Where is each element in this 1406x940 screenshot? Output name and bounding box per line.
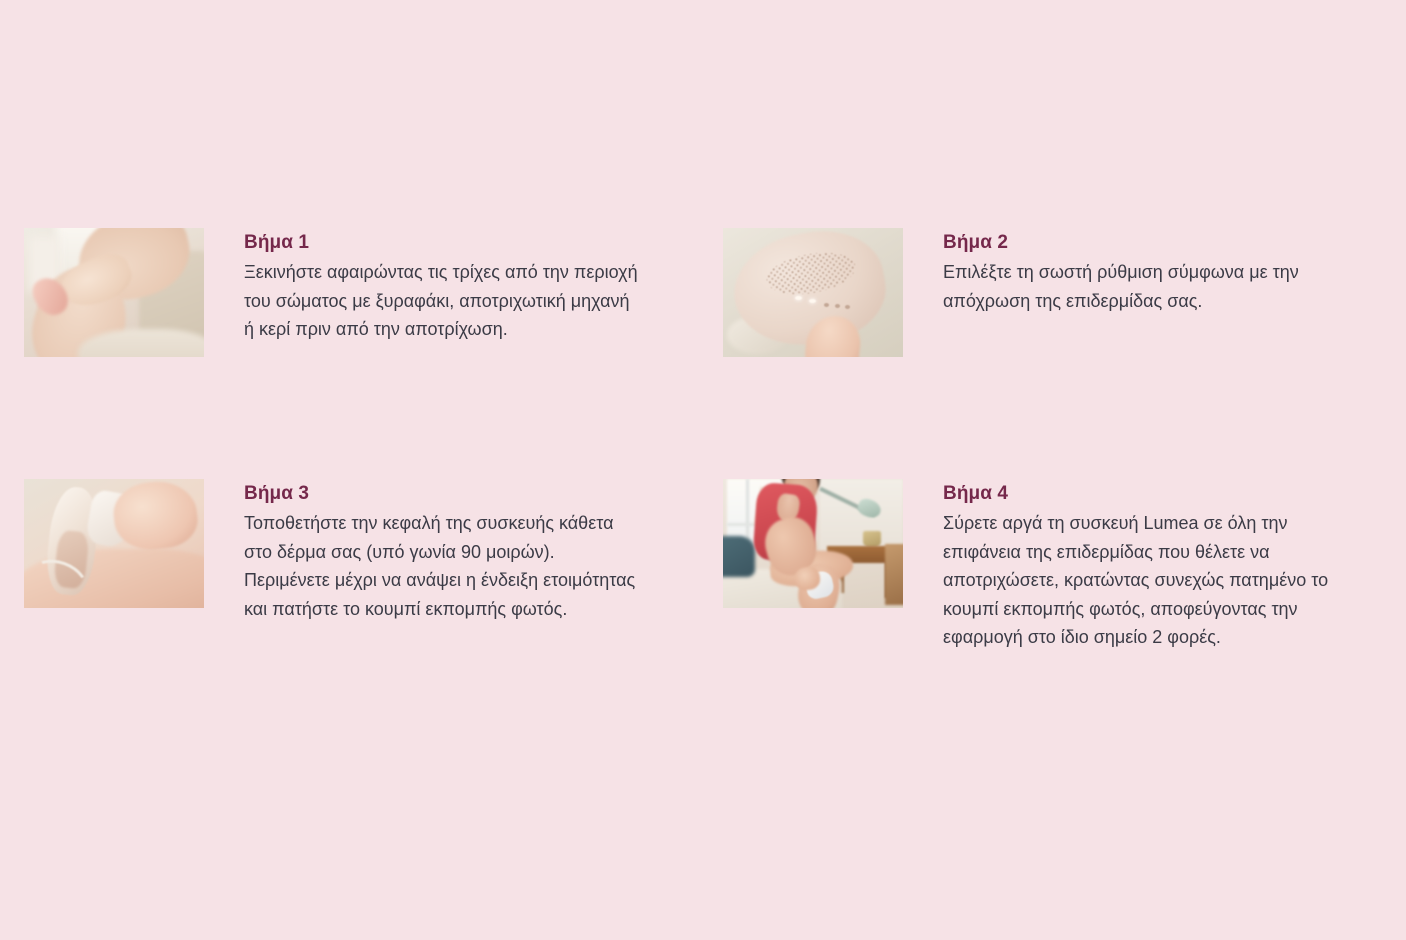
step-2-body: Βήμα 2 Επιλέξτε τη σωστή ρύθμιση σύμφωνα… — [943, 228, 1358, 315]
treatment-room-photo-art — [723, 479, 903, 608]
step-4-text: Σύρετε αργά τη συσκευή Lumea σε όλη την … — [943, 509, 1358, 652]
step-card-4: Βήμα 4 Σύρετε αργά τη συσκευή Lumea σε ό… — [723, 479, 1363, 652]
device-on-skin-photo-art — [24, 479, 204, 608]
step-card-2: Βήμα 2 Επιλέξτε τη σωστή ρύθμιση σύμφωνα… — [723, 228, 1363, 357]
step-3-text: Τοποθετήστε την κεφαλή της συσκευής κάθε… — [244, 509, 644, 623]
step-4-treatment-room-photo — [723, 479, 903, 608]
step-2-title: Βήμα 2 — [943, 230, 1358, 256]
step-3-body: Βήμα 3 Τοποθετήστε την κεφαλή της συσκευ… — [244, 479, 644, 623]
step-card-3: Βήμα 3 Τοποθετήστε την κεφαλή της συσκευ… — [24, 479, 664, 623]
step-2-device-settings-photo — [723, 228, 903, 357]
step-4-body: Βήμα 4 Σύρετε αργά τη συσκευή Lumea σε ό… — [943, 479, 1358, 652]
step-1-shaving-photo — [24, 228, 204, 357]
step-4-title: Βήμα 4 — [943, 481, 1358, 507]
step-2-text: Επιλέξτε τη σωστή ρύθμιση σύμφωνα με την… — [943, 258, 1358, 315]
step-3-title: Βήμα 3 — [244, 481, 644, 507]
step-1-title: Βήμα 1 — [244, 230, 644, 256]
shaving-photo-art — [24, 228, 204, 357]
step-1-text: Ξεκινήστε αφαιρώντας τις τρίχες από την … — [244, 258, 644, 344]
step-3-device-on-skin-photo — [24, 479, 204, 608]
step-card-1: Βήμα 1 Ξεκινήστε αφαιρώντας τις τρίχες α… — [24, 228, 664, 357]
steps-grid: Βήμα 1 Ξεκινήστε αφαιρώντας τις τρίχες α… — [0, 0, 1406, 940]
device-photo-art — [723, 228, 903, 357]
step-1-body: Βήμα 1 Ξεκινήστε αφαιρώντας τις τρίχες α… — [244, 228, 644, 344]
